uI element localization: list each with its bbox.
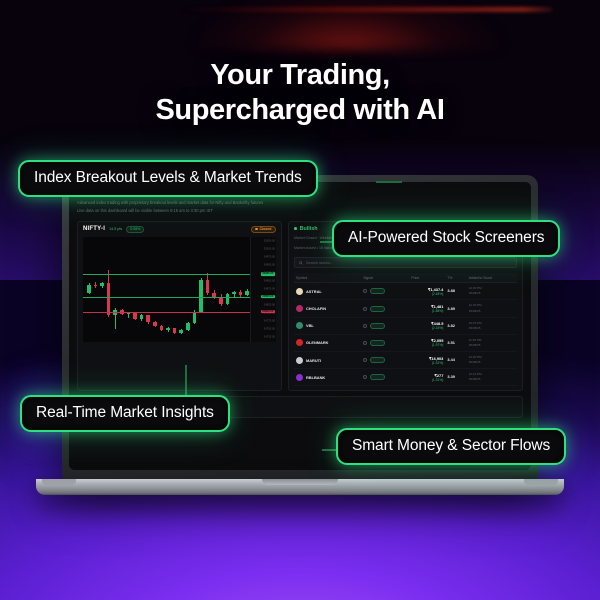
- watch-eye-icon[interactable]: [363, 341, 367, 345]
- cell-symbol: MARUTI: [294, 351, 361, 368]
- price-tick: 24975.00: [264, 255, 275, 258]
- table-column-header[interactable]: Added to Scout: [467, 273, 517, 283]
- signal-sparkline-icon[interactable]: [370, 340, 385, 346]
- level-tag-pivot: 24800.00: [261, 310, 275, 314]
- status-dot-icon: [255, 228, 257, 230]
- cell-added-to-scout: 11:45 PM05/08/25: [467, 334, 517, 351]
- watch-eye-icon[interactable]: [363, 375, 367, 379]
- callout-ai-screeners[interactable]: AI-Powered Stock Screeners: [332, 220, 560, 257]
- cell-target-pct: 3.82: [445, 317, 466, 334]
- market-status-label: Closed: [260, 227, 272, 231]
- watch-eye-icon[interactable]: [363, 324, 367, 328]
- level-line-support: [83, 297, 250, 298]
- signal-sparkline-icon[interactable]: [370, 306, 385, 312]
- stock-price-change: (1.31%): [411, 378, 443, 382]
- target-pct: 3.88: [447, 288, 455, 293]
- dashboard-subtitle-2: Live data on this dashboard will be visi…: [77, 207, 523, 215]
- cell-target-pct: 3.44: [445, 351, 466, 368]
- table-row[interactable]: MARUTI₹16,903(1.52%)3.4412:00 PM05/08/25: [294, 351, 517, 368]
- search-placeholder-text: Search stocks...: [306, 261, 333, 265]
- stock-logo-icon: [296, 305, 303, 312]
- cell-added-to-scout: 12:10 PM05/08/25: [467, 369, 517, 386]
- signal-sparkline-icon[interactable]: [370, 374, 385, 380]
- target-pct: 3.39: [447, 374, 455, 379]
- signal-sparkline-icon[interactable]: [370, 288, 385, 294]
- price-tick: 25050.00: [264, 239, 275, 242]
- page-headline: Your Trading, Supercharged with AI: [0, 58, 600, 129]
- cell-price: ₹16,903(1.52%): [409, 351, 445, 368]
- cell-signal: [361, 283, 409, 300]
- cell-symbol: CHOLAFIN: [294, 300, 361, 317]
- headline-line-2: Supercharged with AI: [0, 93, 600, 128]
- added-date: 05/08/25: [469, 360, 515, 365]
- cell-symbol: GLENMARK: [294, 334, 361, 351]
- cell-target-pct: 3.89: [445, 300, 466, 317]
- target-pct: 3.89: [447, 306, 455, 311]
- table-row[interactable]: CHOLAFIN₹1,481(1.88%)3.8912:30 PM05/08/2…: [294, 300, 517, 317]
- search-stocks-input[interactable]: Search stocks...: [294, 257, 517, 268]
- laptop-base: [36, 479, 564, 495]
- cell-added-to-scout: 12:30 PM05/08/25: [467, 300, 517, 317]
- cell-signal: [361, 334, 409, 351]
- table-header-row: SymbolSignalPriceT%Added to Scout: [294, 273, 517, 283]
- cell-target-pct: 3.39: [445, 369, 466, 386]
- laptop-notch: [262, 479, 338, 485]
- chart-change-pct: 0.06%: [126, 226, 144, 233]
- table-column-header[interactable]: Price: [409, 273, 445, 283]
- stock-logo-icon: [296, 374, 303, 381]
- added-date: 05/08/25: [469, 326, 515, 331]
- stock-symbol: MARUTI: [306, 358, 321, 363]
- stock-price-change: (1.97%): [411, 343, 443, 347]
- added-date: 05/08/25: [469, 291, 515, 296]
- table-column-header[interactable]: T%: [445, 273, 466, 283]
- callout-smart-money[interactable]: Smart Money & Sector Flows: [336, 428, 566, 465]
- price-tick: 24725.00: [264, 336, 275, 339]
- stock-symbol: GLENMARK: [306, 340, 328, 345]
- cell-target-pct: 3.88: [445, 283, 466, 300]
- signal-sparkline-icon[interactable]: [370, 357, 385, 363]
- cell-symbol: ASTRAL: [294, 283, 361, 300]
- callout-realtime-insights[interactable]: Real-Time Market Insights: [20, 395, 230, 432]
- price-tick: 24875.00: [264, 288, 275, 291]
- table-row[interactable]: GLENMARK₹2,055(1.97%)3.5111:45 PM05/08/2…: [294, 334, 517, 351]
- bullish-dot-icon: [294, 227, 297, 230]
- level-tag-resistance: 24925.00: [261, 272, 275, 276]
- screener-table: SymbolSignalPriceT%Added to Scout ASTRAL…: [294, 273, 517, 386]
- cell-added-to-scout: 12:15 PM05/08/25: [467, 317, 517, 334]
- watch-eye-icon[interactable]: [363, 289, 367, 293]
- cell-target-pct: 3.51: [445, 334, 466, 351]
- candle-series: [87, 237, 246, 342]
- index-chart-card: NIFTY-I 14.5 pts 0.06% Closed 25050.0025…: [77, 221, 282, 392]
- cell-signal: [361, 351, 409, 368]
- top-red-line: [180, 8, 552, 11]
- stock-logo-icon: [296, 339, 303, 346]
- callout-index-breakout[interactable]: Index Breakout Levels & Market Trends: [18, 160, 318, 197]
- cell-signal: [361, 369, 409, 386]
- stock-symbol: RBLBANK: [306, 375, 325, 380]
- table-row[interactable]: RBLBANK₹277(1.31%)3.3912:10 PM05/08/25: [294, 369, 517, 386]
- headline-line-1: Your Trading,: [0, 58, 600, 93]
- cell-added-to-scout: 12:00 PM05/08/25: [467, 351, 517, 368]
- stock-symbol: VBL: [306, 323, 314, 328]
- stock-price-change: (2.48%): [411, 292, 443, 296]
- table-column-header[interactable]: Signal: [361, 273, 409, 283]
- price-tick: 24900.00: [264, 279, 275, 282]
- laptop-foot-right: [524, 479, 558, 485]
- level-line-pivot: [83, 312, 250, 313]
- price-tick: 24950.00: [264, 263, 275, 266]
- cell-price: ₹2,055(1.97%): [409, 334, 445, 351]
- target-pct: 3.51: [447, 340, 455, 345]
- cell-added-to-scout: 12:30 PM05/08/25: [467, 283, 517, 300]
- table-row[interactable]: VBL₹448.5(2.18%)3.8212:15 PM05/08/25: [294, 317, 517, 334]
- added-date: 05/08/25: [469, 309, 515, 314]
- stock-price-change: (2.18%): [411, 326, 443, 330]
- level-tag-support: 24850.00: [261, 295, 275, 299]
- chart-symbol: NIFTY-I: [83, 226, 105, 232]
- stock-symbol: CHOLAFIN: [306, 306, 326, 311]
- price-tick: 24775.00: [264, 320, 275, 323]
- table-body: ASTRAL₹1,437.4(2.48%)3.8812:30 PM05/08/2…: [294, 283, 517, 386]
- price-tick: 24750.00: [264, 328, 275, 331]
- stock-symbol: ASTRAL: [306, 289, 322, 294]
- target-pct: 3.44: [447, 357, 455, 362]
- added-date: 05/08/25: [469, 377, 515, 382]
- laptop-foot-left: [42, 479, 76, 485]
- market-status-badge: Closed: [251, 226, 276, 233]
- callout-connector-3: [185, 365, 187, 397]
- target-pct: 3.82: [447, 323, 455, 328]
- table-row[interactable]: ASTRAL₹1,437.4(2.48%)3.8812:30 PM05/08/2…: [294, 283, 517, 300]
- sentiment-status-label: Bullish: [300, 226, 318, 232]
- watch-eye-icon[interactable]: [363, 307, 367, 311]
- candlestick-plot[interactable]: 25050.0025000.0024975.0024950.0024925.00…: [83, 237, 276, 342]
- chart-header: NIFTY-I 14.5 pts 0.06% Closed: [83, 226, 276, 233]
- watch-eye-icon[interactable]: [363, 358, 367, 362]
- cell-symbol: RBLBANK: [294, 369, 361, 386]
- stock-price-change: (1.88%): [411, 309, 443, 313]
- table-column-header[interactable]: Symbol: [294, 273, 361, 283]
- chart-change: 14.5 pts: [109, 227, 122, 231]
- stock-logo-icon: [296, 288, 303, 295]
- signal-sparkline-icon[interactable]: [370, 323, 385, 329]
- price-tick: 25000.00: [264, 247, 275, 250]
- stock-logo-icon: [296, 357, 303, 364]
- added-date: 05/08/25: [469, 343, 515, 348]
- cell-price: ₹1,437.4(2.48%): [409, 283, 445, 300]
- stock-logo-icon: [296, 322, 303, 329]
- price-axis: 25050.0025000.0024975.0024950.0024925.00…: [250, 237, 276, 342]
- search-icon: [299, 261, 303, 265]
- stock-price-change: (1.52%): [411, 361, 443, 365]
- cell-price: ₹448.5(2.18%): [409, 317, 445, 334]
- price-tick: 24825.00: [264, 304, 275, 307]
- cell-signal: [361, 317, 409, 334]
- callout-connector-1: [376, 181, 402, 183]
- level-line-resistance: [83, 274, 250, 275]
- cell-signal: [361, 300, 409, 317]
- cell-price: ₹1,481(1.88%): [409, 300, 445, 317]
- cell-price: ₹277(1.31%): [409, 369, 445, 386]
- dashboard-subtitle-1: Advanced index trading with proprietary …: [77, 199, 523, 207]
- cell-symbol: VBL: [294, 317, 361, 334]
